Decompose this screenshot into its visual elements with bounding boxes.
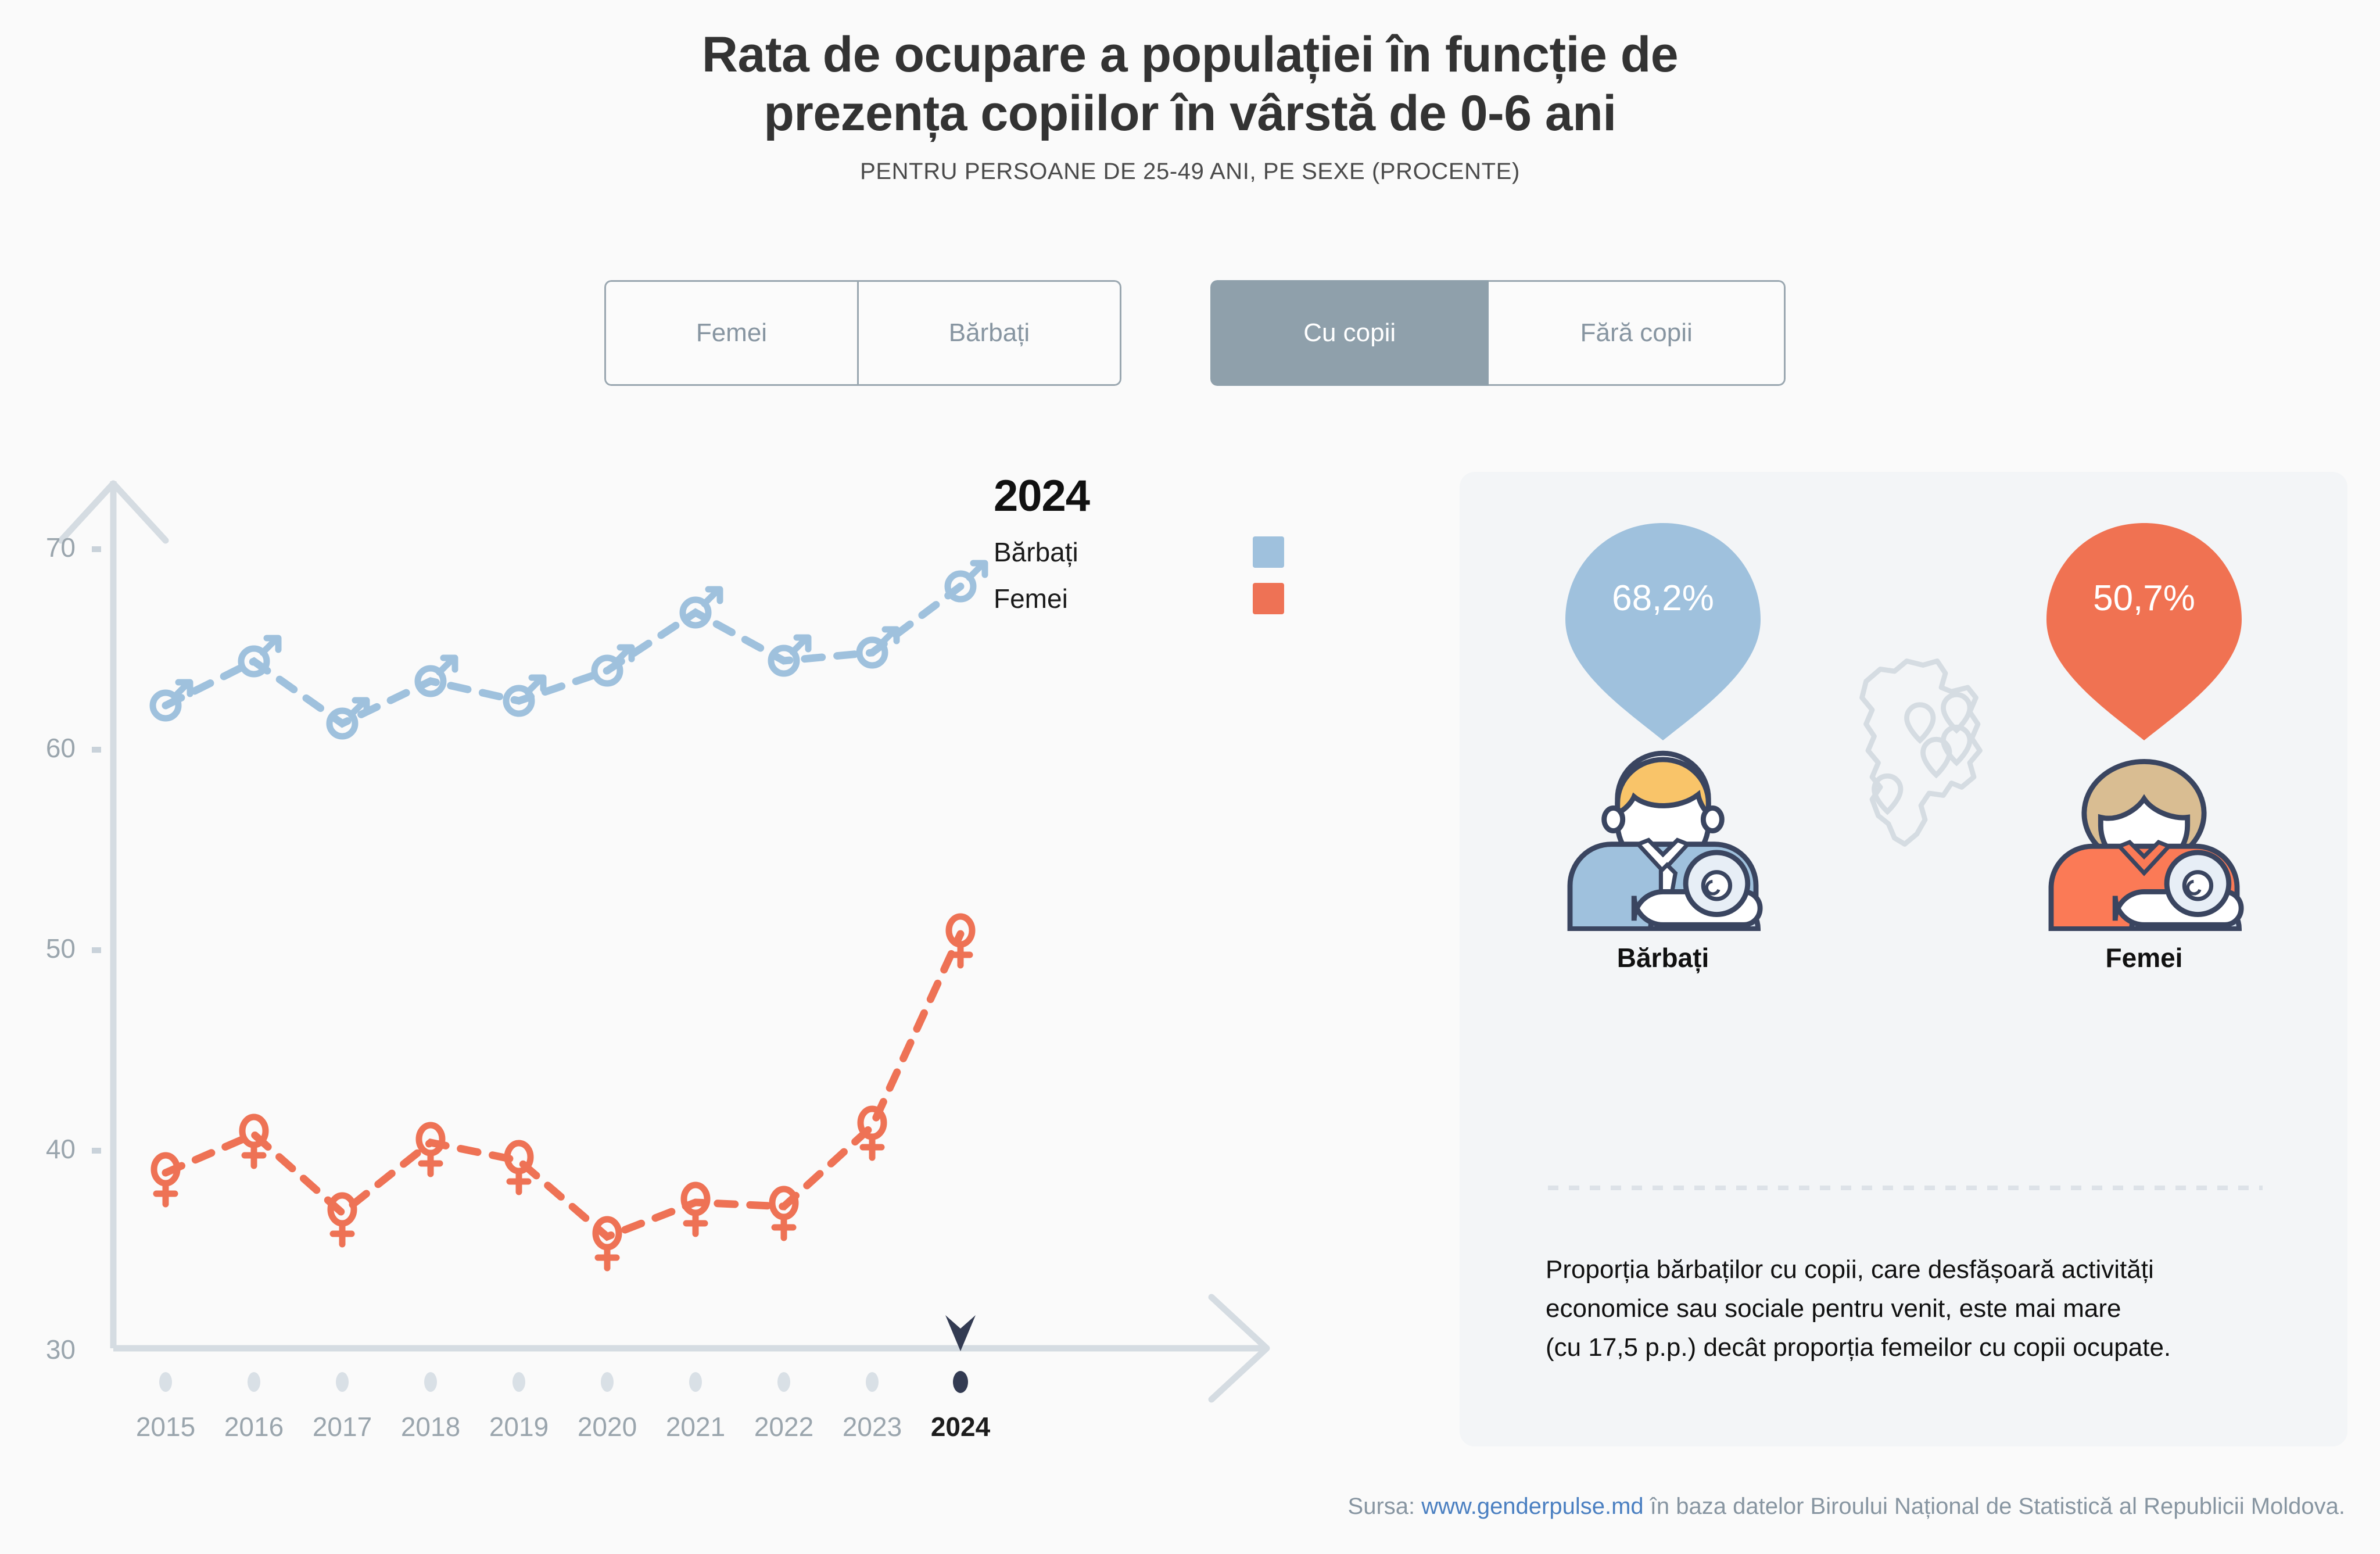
- x-tick-2023: 2023: [826, 1411, 919, 1442]
- x-tick-2016: 2016: [207, 1411, 300, 1442]
- pin-women-value: 50,7%: [2016, 578, 2272, 619]
- toggle-fara-copii[interactable]: Fără copii: [1489, 280, 1786, 386]
- toggle-barbati[interactable]: Bărbați: [859, 280, 1121, 386]
- avatar-man-with-baby-icon: [1535, 745, 1791, 931]
- x-tick-2015: 2015: [119, 1411, 212, 1442]
- series-line-femei: [166, 934, 960, 1237]
- x-tick-2018: 2018: [384, 1411, 477, 1442]
- x-tick-2019: 2019: [472, 1411, 565, 1442]
- x-tick-2022: 2022: [737, 1411, 830, 1442]
- source-suffix: în baza datelor Biroului Național de Sta…: [1644, 1494, 2345, 1519]
- legend-year: 2024: [994, 471, 1354, 521]
- title-line-2: prezența copiilor în vârstă de 0-6 ani: [0, 84, 2380, 143]
- y-tick-40: 40: [12, 1133, 76, 1165]
- source-prefix: Sursa:: [1348, 1494, 1422, 1519]
- avatar-woman-with-baby-icon: [2016, 745, 2272, 931]
- x-tick-2020: 2020: [561, 1411, 654, 1442]
- figures-row: 68,2%: [1460, 472, 2347, 1088]
- pin-women-icon: [2016, 513, 2272, 745]
- y-tick-50: 50: [12, 933, 76, 964]
- toggle-cu-copii[interactable]: Cu copii: [1210, 280, 1489, 386]
- y-axis: [61, 481, 166, 1348]
- x-tick-2021: 2021: [649, 1411, 742, 1442]
- pin-women: 50,7%: [2016, 513, 2272, 745]
- source-link[interactable]: www.genderpulse.md: [1421, 1494, 1643, 1519]
- x-tick-2024: 2024: [914, 1411, 1007, 1442]
- title-line-1: Rata de ocupare a populației în funcție …: [0, 26, 2380, 84]
- series-line-barbati: [166, 586, 960, 724]
- figure-men: 68,2%: [1535, 513, 1791, 973]
- children-toggle-group[interactable]: Cu copii Fără copii: [1210, 280, 1786, 386]
- page-title: Rata de ocupare a populației în funcție …: [0, 0, 2380, 144]
- pin-men-value: 68,2%: [1535, 578, 1791, 619]
- y-tick-marks: [92, 546, 101, 1154]
- panel-note-line-2: economice sau sociale pentru venit, este…: [1546, 1290, 2318, 1329]
- filter-toggles: Femei Bărbați Cu copii Fără copii: [0, 280, 2380, 396]
- legend-item-femei[interactable]: Femei: [994, 583, 1284, 614]
- legend-label-femei: Femei: [994, 583, 1068, 614]
- source-footer: Sursa: www.genderpulse.md în baza datelo…: [0, 1494, 2380, 1520]
- legend-swatch-femei: [1253, 583, 1284, 614]
- panel-divider: [1548, 1186, 2263, 1190]
- panel-note: Proporția bărbaților cu copii, care desf…: [1546, 1251, 2318, 1367]
- y-tick-30: 30: [12, 1334, 76, 1365]
- toggle-femei[interactable]: Femei: [604, 280, 859, 386]
- figure-women-label: Femei: [2016, 942, 2272, 973]
- chart-legend: 2024 Bărbați Femei: [994, 471, 1354, 614]
- summary-panel: 68,2%: [1460, 472, 2347, 1446]
- page-header: Rata de ocupare a populației în funcție …: [0, 0, 2380, 185]
- legend-swatch-barbati: [1253, 536, 1284, 568]
- y-tick-70: 70: [12, 532, 76, 563]
- x-tick-2017: 2017: [296, 1411, 389, 1442]
- pin-men-icon: [1535, 513, 1791, 745]
- y-tick-60: 60: [12, 732, 76, 764]
- legend-item-barbati[interactable]: Bărbați: [994, 536, 1284, 568]
- gender-toggle-group[interactable]: Femei Bărbați: [604, 280, 1121, 386]
- figure-men-label: Bărbați: [1535, 942, 1791, 973]
- panel-note-line-3: (cu 17,5 p.p.) decât proporția femeilor …: [1546, 1329, 2318, 1367]
- figure-women: 50,7% Femei: [2016, 513, 2272, 973]
- page-subtitle: PENTRU PERSOANE DE 25-49 ANI, PE SEXE (P…: [0, 159, 2380, 185]
- legend-label-barbati: Bărbați: [994, 536, 1078, 568]
- pin-men: 68,2%: [1535, 513, 1791, 745]
- series-markers-femei: [154, 916, 972, 1268]
- moldova-map-icon: [1831, 635, 1994, 879]
- panel-note-line-1: Proporția bărbaților cu copii, care desf…: [1546, 1251, 2318, 1290]
- series-markers-barbati: [153, 563, 985, 736]
- x-axis-dots: [159, 1371, 968, 1393]
- infographic-page: Rata de ocupare a populației în funcție …: [0, 0, 2380, 1554]
